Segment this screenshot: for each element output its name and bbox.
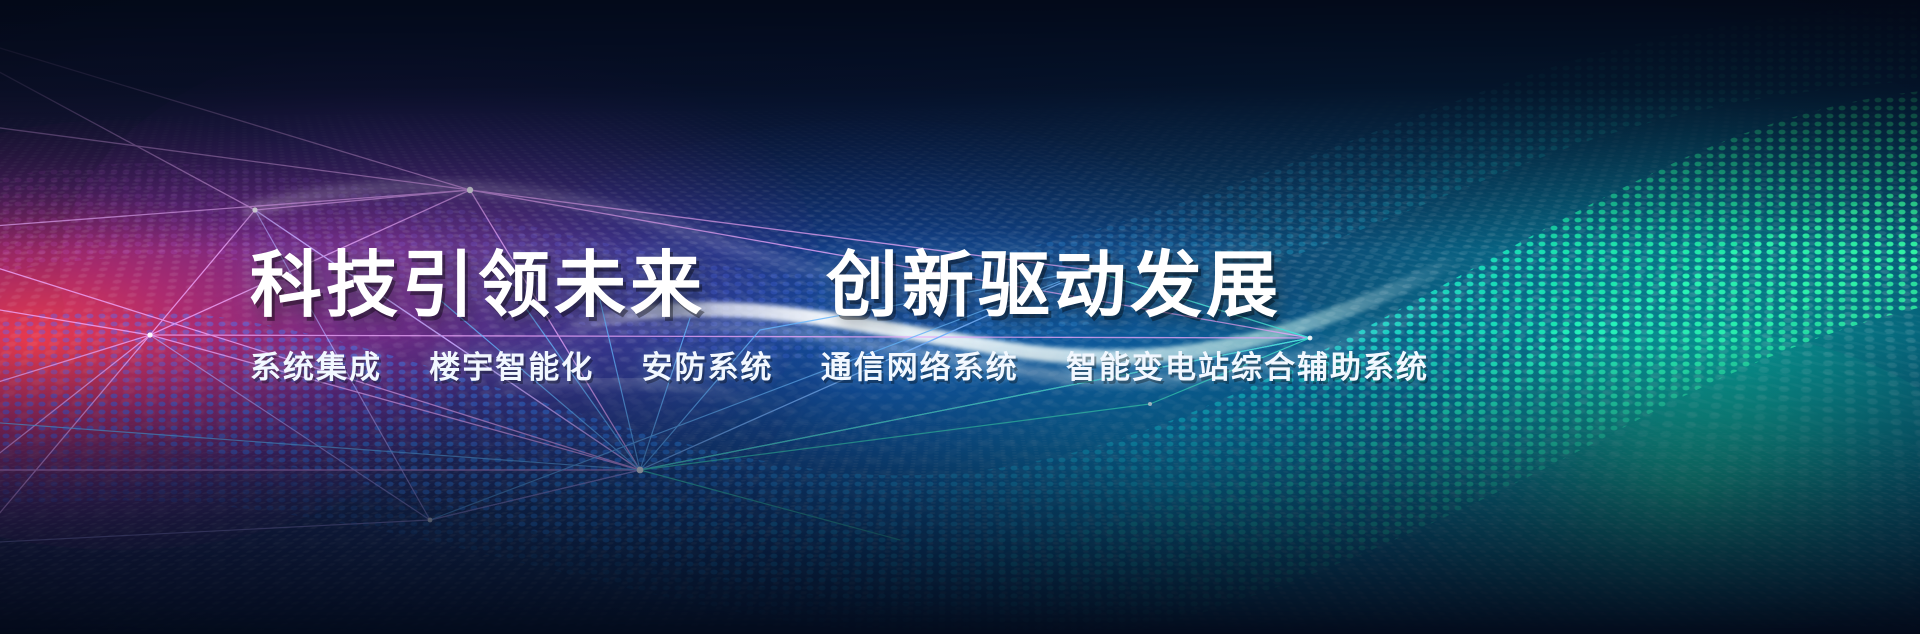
subtitle-item-3: 通信网络系统 — [821, 350, 1019, 385]
banner-text-block: 科技引领未来 创新驱动发展 系统集成 楼宇智能化 安防系统 通信网络系统 智能变… — [250, 250, 1650, 387]
subtitle-item-0: 系统集成 — [250, 350, 382, 385]
subtitle-item-2: 安防系统 — [642, 350, 774, 385]
headline-right-phrase: 创新驱动发展 — [826, 246, 1282, 326]
subtitle-item-1: 楼宇智能化 — [429, 350, 594, 385]
tech-banner: 科技引领未来 创新驱动发展 系统集成 楼宇智能化 安防系统 通信网络系统 智能变… — [0, 0, 1920, 634]
top-shade — [0, 0, 1920, 250]
headline-left-phrase: 科技引领未来 — [250, 246, 706, 326]
banner-headline: 科技引领未来 创新驱动发展 — [250, 250, 1650, 322]
subtitle-item-4: 智能变电站综合辅助系统 — [1066, 350, 1429, 385]
banner-subtitle: 系统集成 楼宇智能化 安防系统 通信网络系统 智能变电站综合辅助系统 — [250, 342, 1650, 387]
